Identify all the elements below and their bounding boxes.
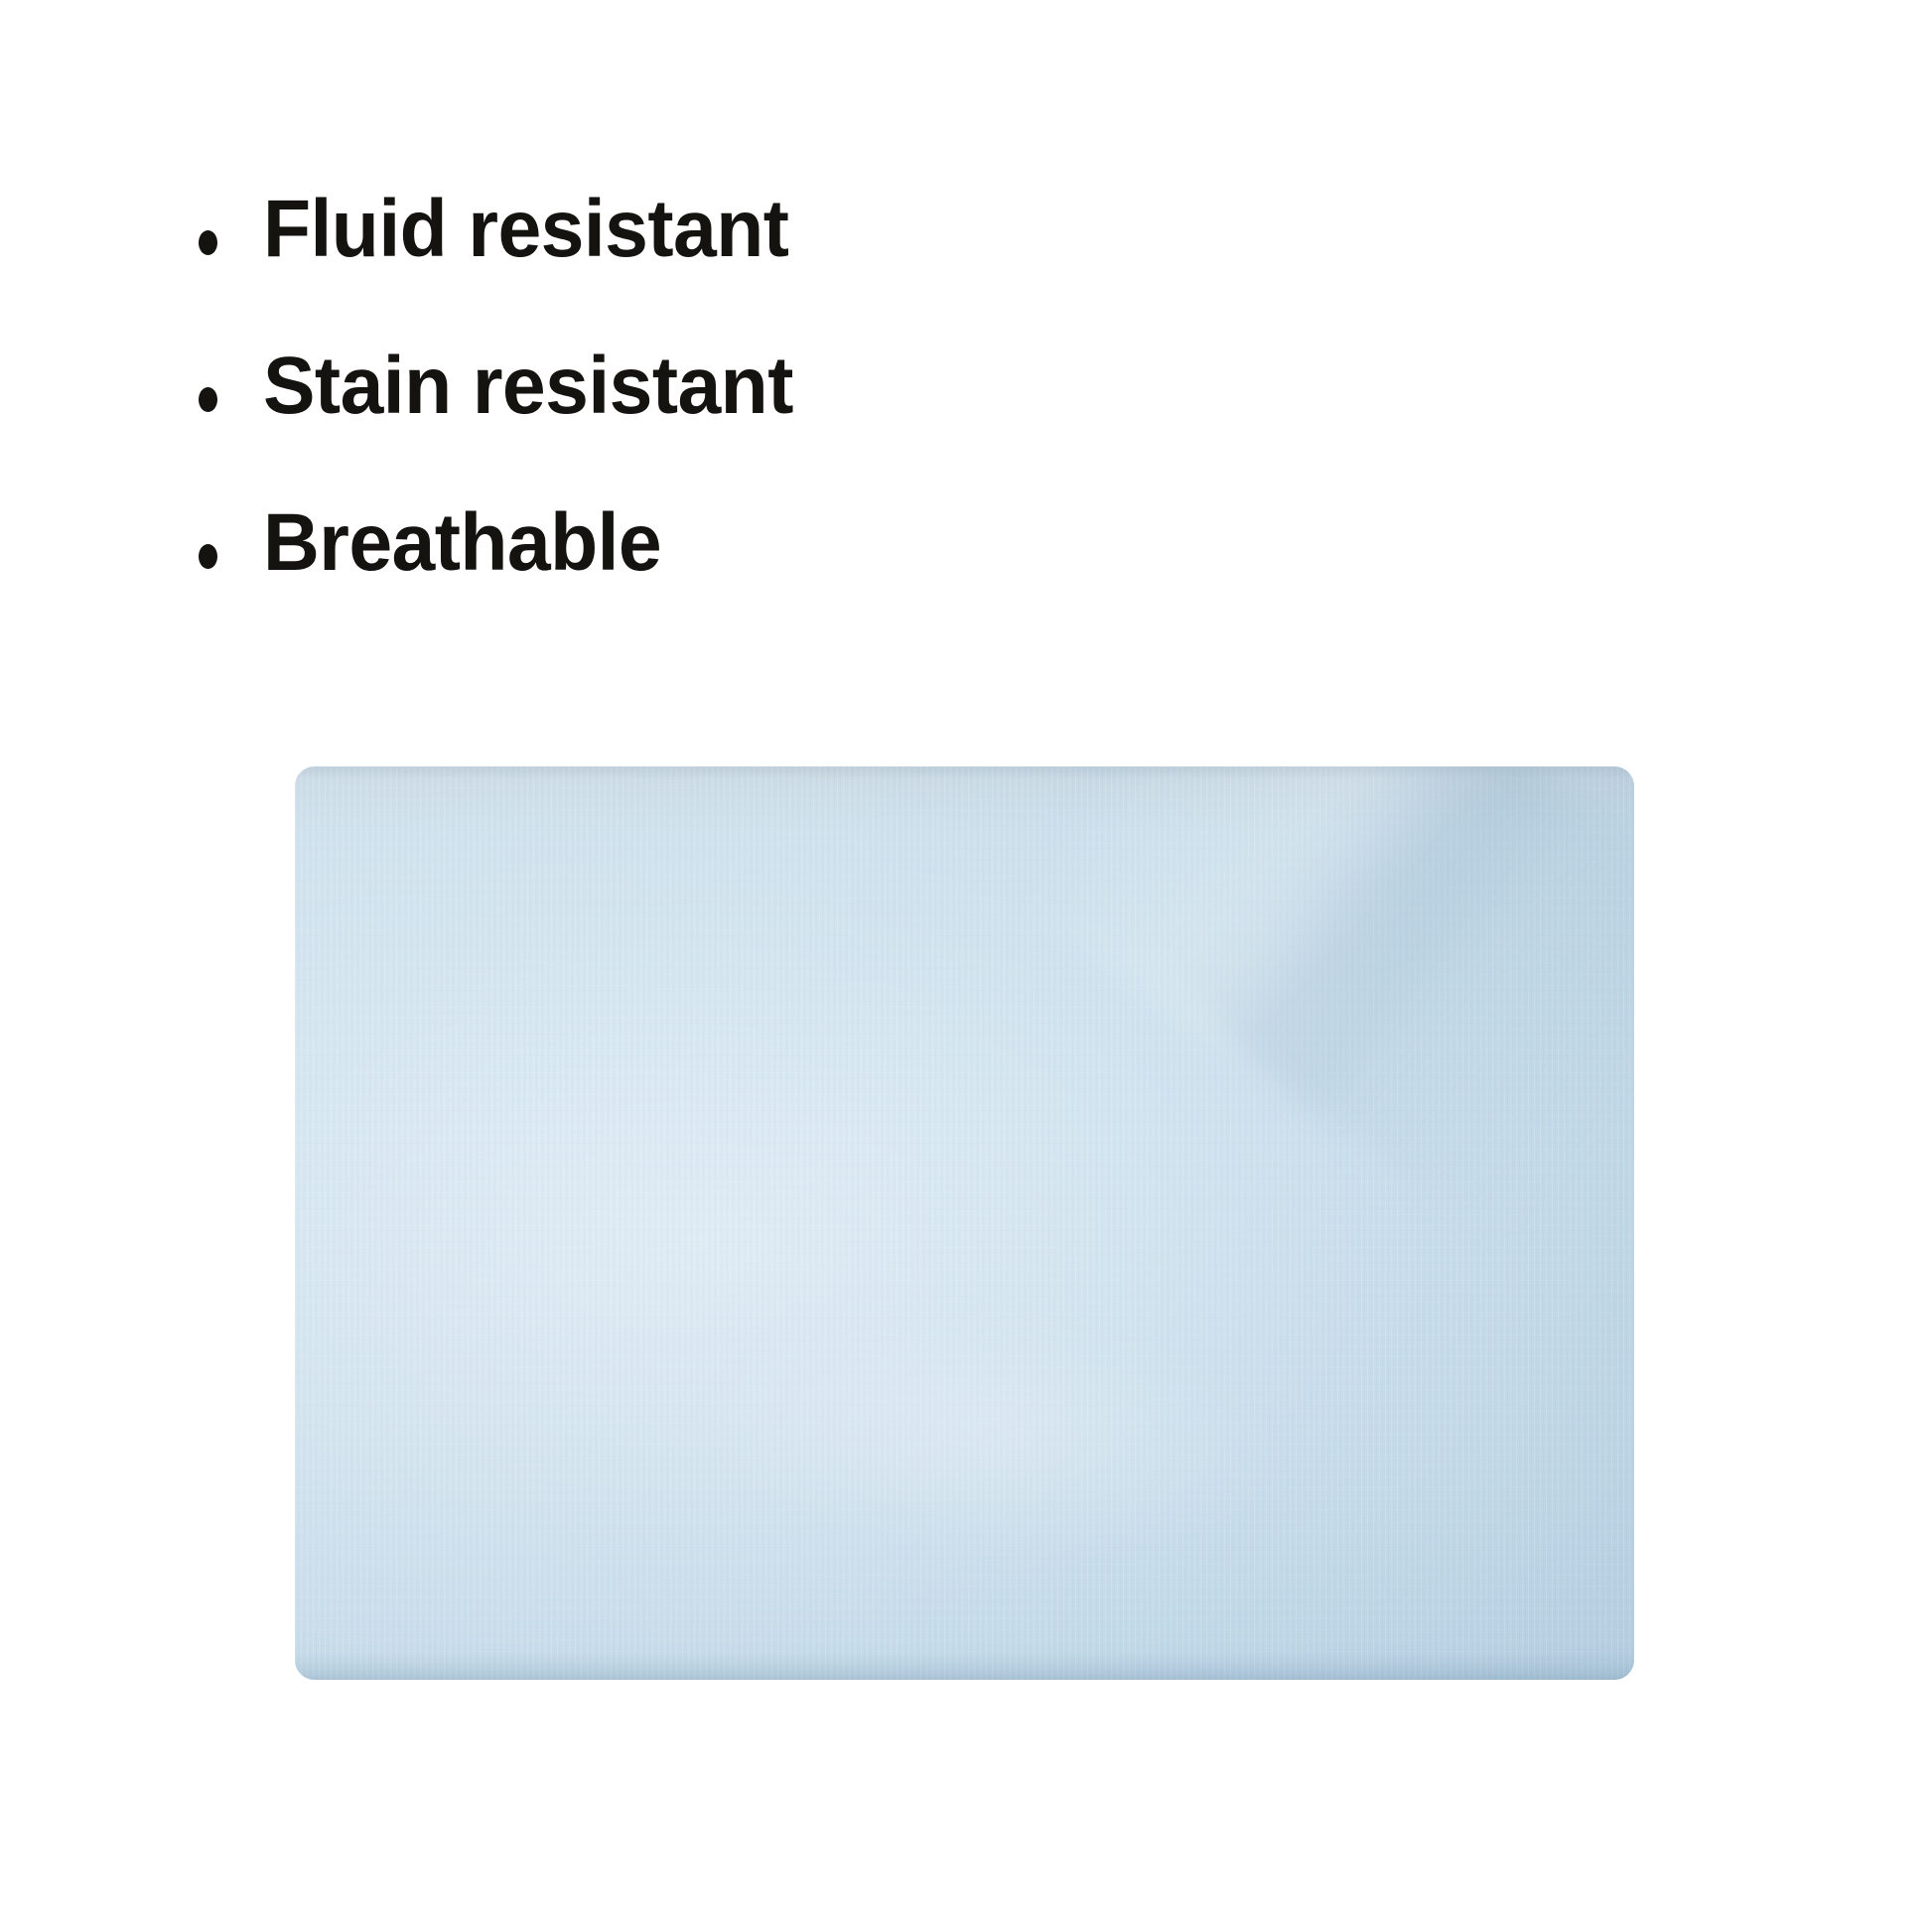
page-root: Fluid resistant Stain resistant Breathab… [0,0,1932,1932]
fabric-bottom-edge-shadow [295,1654,1634,1680]
feature-label: Stain resistant [263,341,793,432]
bullet-dot-icon [199,230,217,255]
bullet-dot-icon [199,544,217,569]
list-item: Breathable [199,497,1390,646]
list-item: Fluid resistant [199,184,1390,341]
feature-label: Fluid resistant [263,184,788,275]
feature-bullet-list: Fluid resistant Stain resistant Breathab… [199,184,1390,646]
fabric-fold [633,1254,1350,1612]
product-image [295,766,1634,1680]
fabric-top-edge-shadow [295,766,1634,780]
bullet-dot-icon [199,387,217,412]
feature-label: Breathable [263,497,661,589]
list-item: Stain resistant [199,341,1390,497]
